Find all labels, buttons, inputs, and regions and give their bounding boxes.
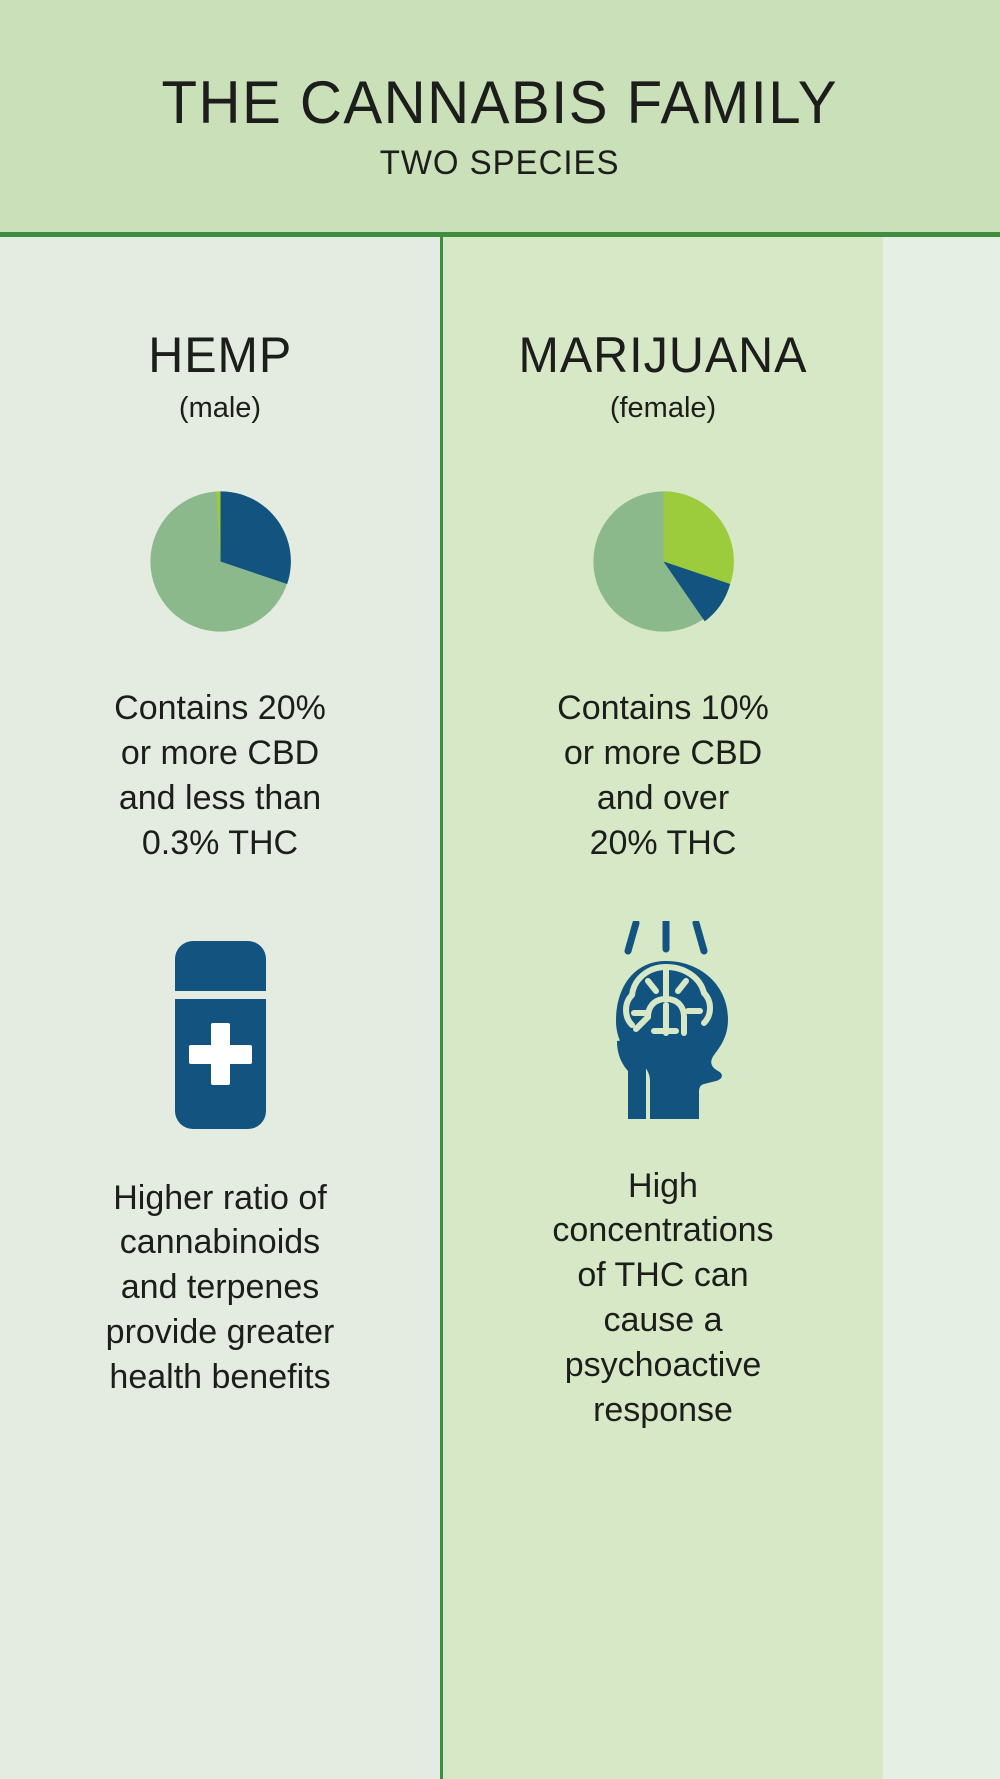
hemp-description-line: 0.3% THC: [50, 821, 390, 866]
page-title: THE CANNABIS FAMILY: [162, 71, 839, 134]
hemp-benefit-line: provide greater: [40, 1310, 400, 1355]
hemp-benefit-line: and terpenes: [40, 1265, 400, 1310]
marijuana-description-line: Contains 10%: [493, 686, 833, 731]
species-name-marijuana: MARIJUANA: [519, 330, 808, 380]
hemp-benefit-line: Higher ratio of: [40, 1176, 400, 1221]
hemp-composition-pie: [138, 479, 303, 644]
column-marijuana: MARIJUANA (female) Contains 10% or more …: [443, 237, 883, 1779]
marijuana-description-line: or more CBD: [493, 731, 833, 776]
marijuana-benefit-line: psychoactive: [483, 1343, 843, 1388]
species-sex-hemp: (male): [179, 394, 261, 423]
marijuana-benefit-line: cause a: [483, 1298, 843, 1343]
infographic-poster: THE CANNABIS FAMILY TWO SPECIES HEMP (ma…: [0, 0, 1000, 1779]
column-hemp: HEMP (male) Contains 20% or more CBD: [0, 237, 440, 1779]
comparison-body: HEMP (male) Contains 20% or more CBD: [0, 237, 1000, 1779]
marijuana-description-line: and over: [493, 776, 833, 821]
hemp-description: Contains 20% or more CBD and less than 0…: [50, 686, 390, 866]
marijuana-composition-pie: [581, 479, 746, 644]
hemp-description-line: or more CBD: [50, 731, 390, 776]
marijuana-benefit-line: High: [483, 1164, 843, 1209]
hemp-description-line: Contains 20%: [50, 686, 390, 731]
species-name-hemp: HEMP: [148, 330, 292, 380]
marijuana-description-line: 20% THC: [493, 821, 833, 866]
hemp-description-line: and less than: [50, 776, 390, 821]
marijuana-benefit-line: response: [483, 1388, 843, 1433]
hemp-benefit-line: health benefits: [40, 1355, 400, 1400]
hemp-benefit: Higher ratio of cannabinoids and terpene…: [40, 1176, 400, 1400]
marijuana-description: Contains 10% or more CBD and over 20% TH…: [493, 686, 833, 866]
hemp-benefit-line: cannabinoids: [40, 1220, 400, 1265]
brain-head-icon: [588, 924, 738, 1124]
medicine-bottle-icon: [163, 936, 278, 1136]
page-subtitle: TWO SPECIES: [380, 144, 620, 183]
species-sex-marijuana: (female): [610, 394, 716, 423]
marijuana-benefit-line: of THC can: [483, 1253, 843, 1298]
header-banner: THE CANNABIS FAMILY TWO SPECIES: [0, 0, 1000, 232]
marijuana-benefit: High concentrations of THC can cause a p…: [483, 1164, 843, 1433]
marijuana-benefit-line: concentrations: [483, 1208, 843, 1253]
